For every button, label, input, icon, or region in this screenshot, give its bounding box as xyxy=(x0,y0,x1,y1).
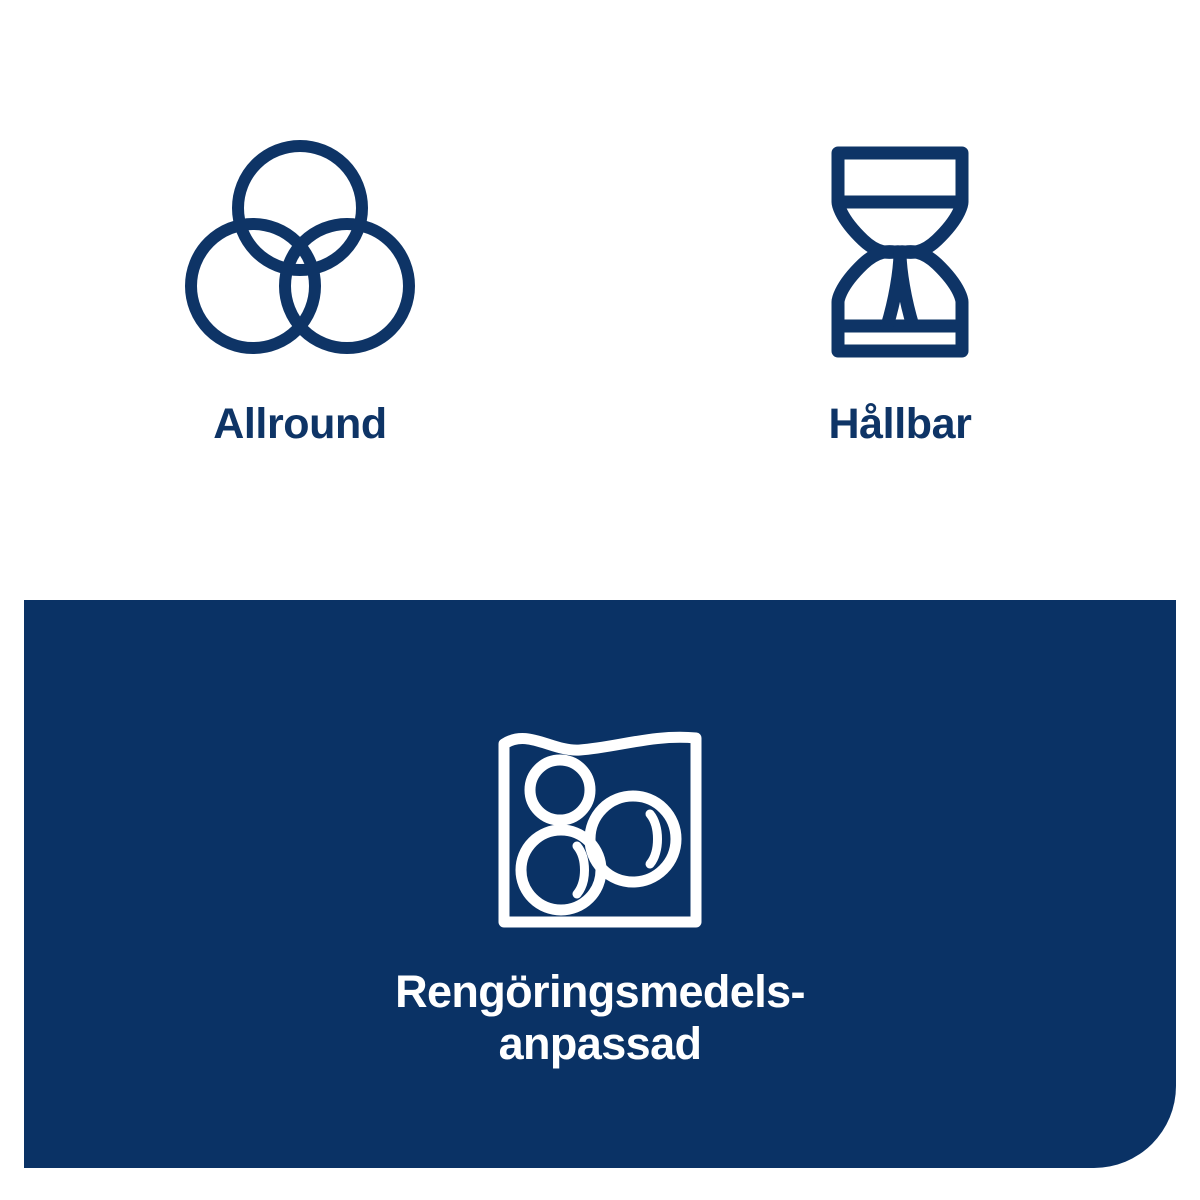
feature-item-hallbar[interactable]: Hållbar xyxy=(600,0,1200,575)
panel-title: Rengöringsmedels- anpassad xyxy=(24,966,1176,1070)
panel-title-line-2: anpassad xyxy=(24,1018,1176,1070)
feature-item-allround[interactable]: Allround xyxy=(0,0,600,575)
feature-row: Allround Hållbar xyxy=(0,0,1200,575)
hourglass-icon xyxy=(825,140,975,364)
feature-label-hallbar: Hållbar xyxy=(600,398,1200,450)
cleaning-agent-panel[interactable]: Rengöringsmedels- anpassad xyxy=(24,600,1176,1168)
feature-label-allround: Allround xyxy=(0,398,600,450)
liquid-bubbles-icon xyxy=(494,722,706,932)
three-overlapping-circles-icon xyxy=(182,138,418,360)
panel-title-line-1: Rengöringsmedels- xyxy=(24,966,1176,1018)
